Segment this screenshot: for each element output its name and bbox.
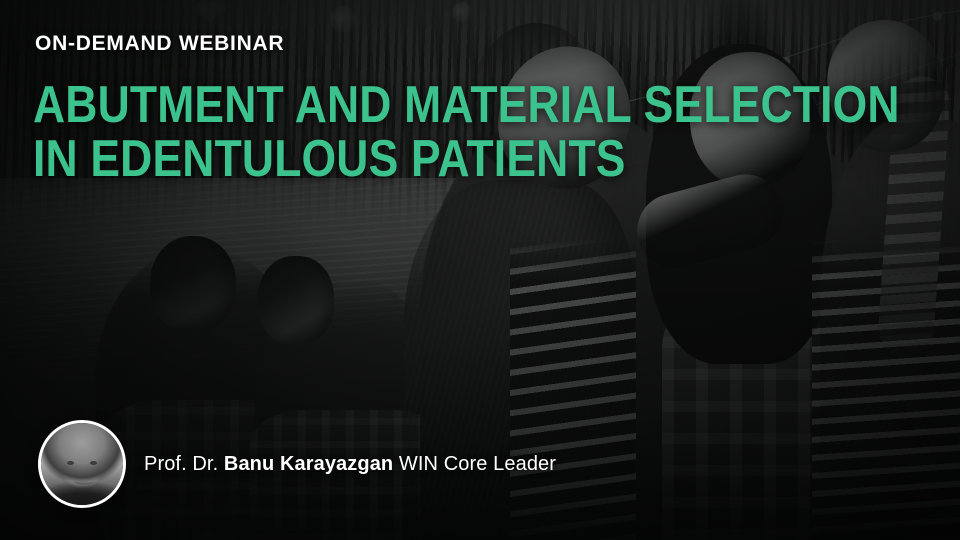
eyebrow-label: ON-DEMAND WEBINAR <box>35 32 284 56</box>
avatar-eye-left <box>67 461 74 465</box>
title-line-1: ABUTMENT AND MATERIAL SELECTION <box>33 78 632 132</box>
title-line-2: IN EDENTULOUS PATIENTS <box>33 132 632 186</box>
slide-content: ON-DEMAND WEBINAR ABUTMENT AND MATERIAL … <box>0 0 960 540</box>
presenter-name: Banu Karayazgan <box>224 453 393 475</box>
webinar-promo-slide: ON-DEMAND WEBINAR ABUTMENT AND MATERIAL … <box>0 0 960 540</box>
avatar <box>38 420 126 508</box>
presenter-credit: Prof. Dr. Banu Karayazgan WIN Core Leade… <box>38 420 556 508</box>
presenter-title-prefix: Prof. Dr. <box>144 453 224 475</box>
presenter-byline: Prof. Dr. Banu Karayazgan WIN Core Leade… <box>144 453 556 476</box>
slide-title: ABUTMENT AND MATERIAL SELECTION IN EDENT… <box>33 78 733 186</box>
presenter-role: WIN Core Leader <box>393 453 556 475</box>
presenter-portrait-icon <box>41 423 123 505</box>
avatar-eye-right <box>90 461 97 465</box>
avatar-smile <box>74 476 94 485</box>
